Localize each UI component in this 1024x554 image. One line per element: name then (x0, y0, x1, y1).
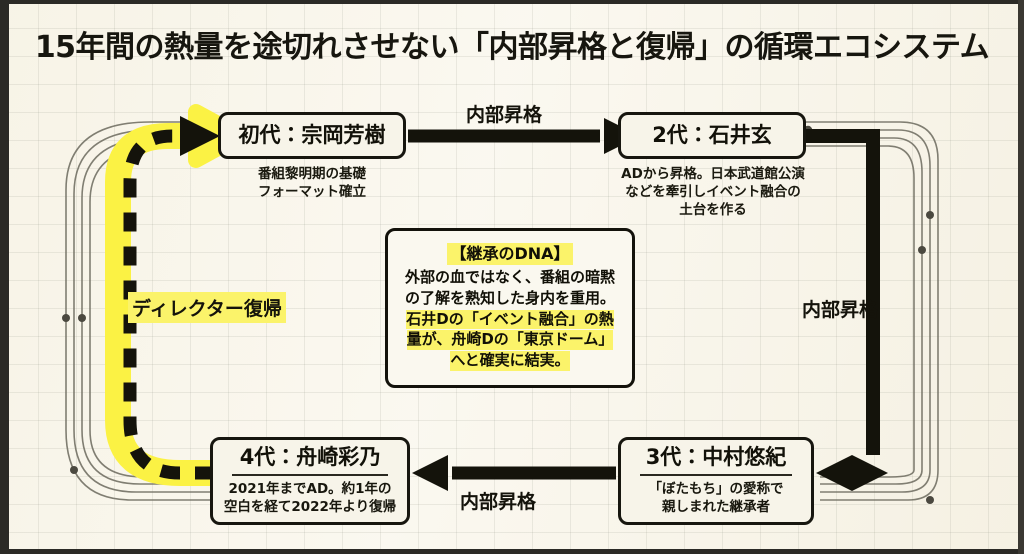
edge-bottom-arrow (412, 455, 616, 491)
callout-box-inheritance-dna[interactable]: 【継承のDNA】 外部の血ではなく、番組の暗黙 の了解を熟知した身内を重用。 石… (385, 228, 635, 388)
node-title: 2代：石井玄 (652, 124, 772, 147)
node-caption-first-generation: 番組黎明期の基礎 フォーマット確立 (200, 166, 424, 202)
node-title: 3代：中村悠紀 (646, 446, 787, 469)
edge-label-right: 内部昇格 (802, 295, 878, 322)
node-caption-fourth-generation: 2021年までAD。約1年の 空白を経て2022年より復帰 (224, 481, 396, 516)
node-caption-third-generation: 「ぼたもち」の愛称で 親しまれた継承者 (649, 481, 784, 516)
node-title: 4代：舟崎彩乃 (240, 446, 381, 469)
callout-line-highlighted: へと確実に結実。 (450, 351, 569, 371)
edge-label-bottom: 内部昇格 (460, 487, 536, 514)
callout-line-highlighted: 石井Dの「イベント融合」の熱 (406, 310, 613, 330)
diagram-canvas: 15年間の熱量を途切れさせない「内部昇格と復帰」の循環エコシステム (0, 0, 1024, 554)
node-divider (232, 474, 387, 476)
edge-label-top: 内部昇格 (466, 100, 542, 127)
callout-line: 外部の血ではなく、番組の暗黙 (405, 268, 615, 288)
callout-line-highlighted: 量が、舟崎Dの「東京ドーム」 (407, 330, 614, 350)
callout-body: 外部の血ではなく、番組の暗黙 の了解を熟知した身内を重用。 石井Dの「イベント融… (405, 268, 615, 371)
node-title: 初代：宗岡芳樹 (239, 124, 386, 147)
node-divider (640, 474, 792, 476)
node-box-fourth-generation[interactable]: 4代：舟崎彩乃 2021年までAD。約1年の 空白を経て2022年より復帰 (210, 437, 410, 525)
node-box-third-generation[interactable]: 3代：中村悠紀 「ぼたもち」の愛称で 親しまれた継承者 (618, 437, 814, 525)
callout-heading: 【継承のDNA】 (447, 243, 572, 265)
callout-line: の了解を熟知した身内を重用。 (405, 289, 615, 309)
node-box-second-generation[interactable]: 2代：石井玄 (618, 112, 806, 159)
node-caption-second-generation: ADから昇格。日本武道館公演 などを牽引しイベント融合の 土台を作る (588, 166, 838, 219)
edge-label-left-director-return: ディレクター復帰 (128, 292, 286, 323)
node-box-first-generation[interactable]: 初代：宗岡芳樹 (218, 112, 406, 159)
